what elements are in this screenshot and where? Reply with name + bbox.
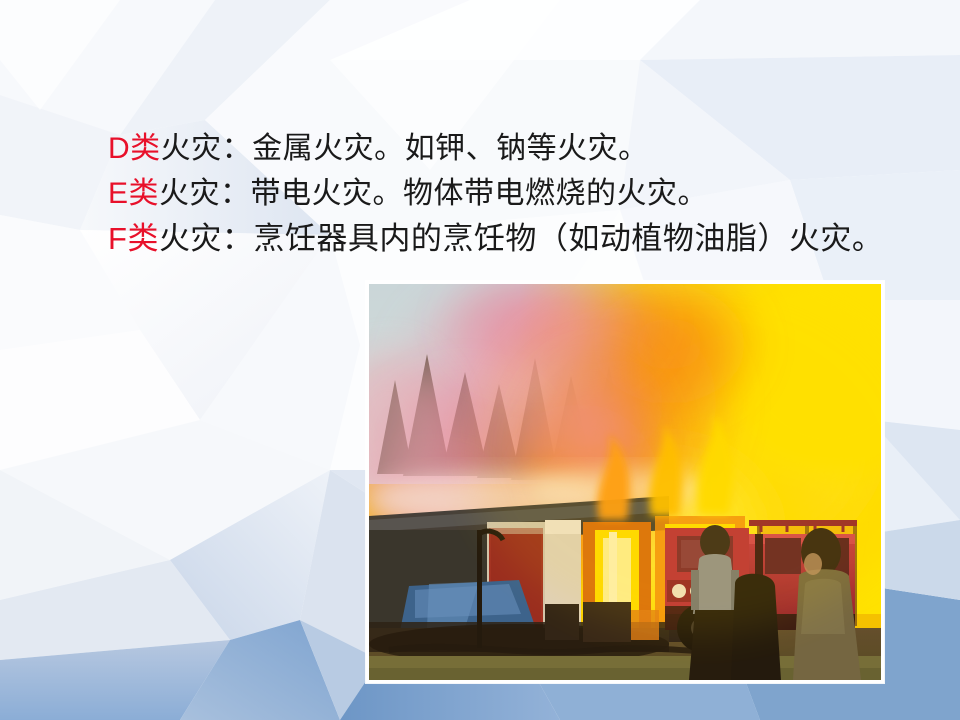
fire-photo-frame — [366, 281, 884, 683]
slide-canvas: D类火灾：金属火灾。如钾、钠等火灾。 E类火灾：带电火灾。物体带电燃烧的火灾。 … — [0, 0, 960, 720]
fire-class-line-f: F类火灾：烹饪器具内的烹饪物（如动植物油脂）火灾。 — [108, 216, 918, 261]
line-d-highlight: 类 — [130, 132, 161, 165]
fire-class-line-d: D类火灾：金属火灾。如钾、钠等火灾。 — [108, 126, 918, 171]
line-e-rest: 火灾：带电火灾。物体带电燃烧的火灾。 — [159, 177, 708, 210]
slide-text-block: D类火灾：金属火灾。如钾、钠等火灾。 E类火灾：带电火灾。物体带电燃烧的火灾。 … — [108, 126, 918, 261]
line-f-prefix: F — [108, 221, 127, 256]
fire-class-line-e: E类火灾：带电火灾。物体带电燃烧的火灾。 — [108, 171, 918, 216]
fire-photo — [369, 284, 881, 680]
line-f-highlight: 类 — [127, 221, 159, 256]
line-e-prefix: E — [108, 177, 129, 210]
fire-photo-illustration — [369, 284, 881, 680]
line-d-rest: 火灾：金属火灾。如钾、钠等火灾。 — [161, 132, 649, 165]
line-e-highlight: 类 — [129, 177, 160, 210]
line-f-rest: 火灾：烹饪器具内的烹饪物（如动植物油脂）火灾。 — [159, 221, 884, 256]
line-d-prefix: D — [108, 132, 130, 165]
